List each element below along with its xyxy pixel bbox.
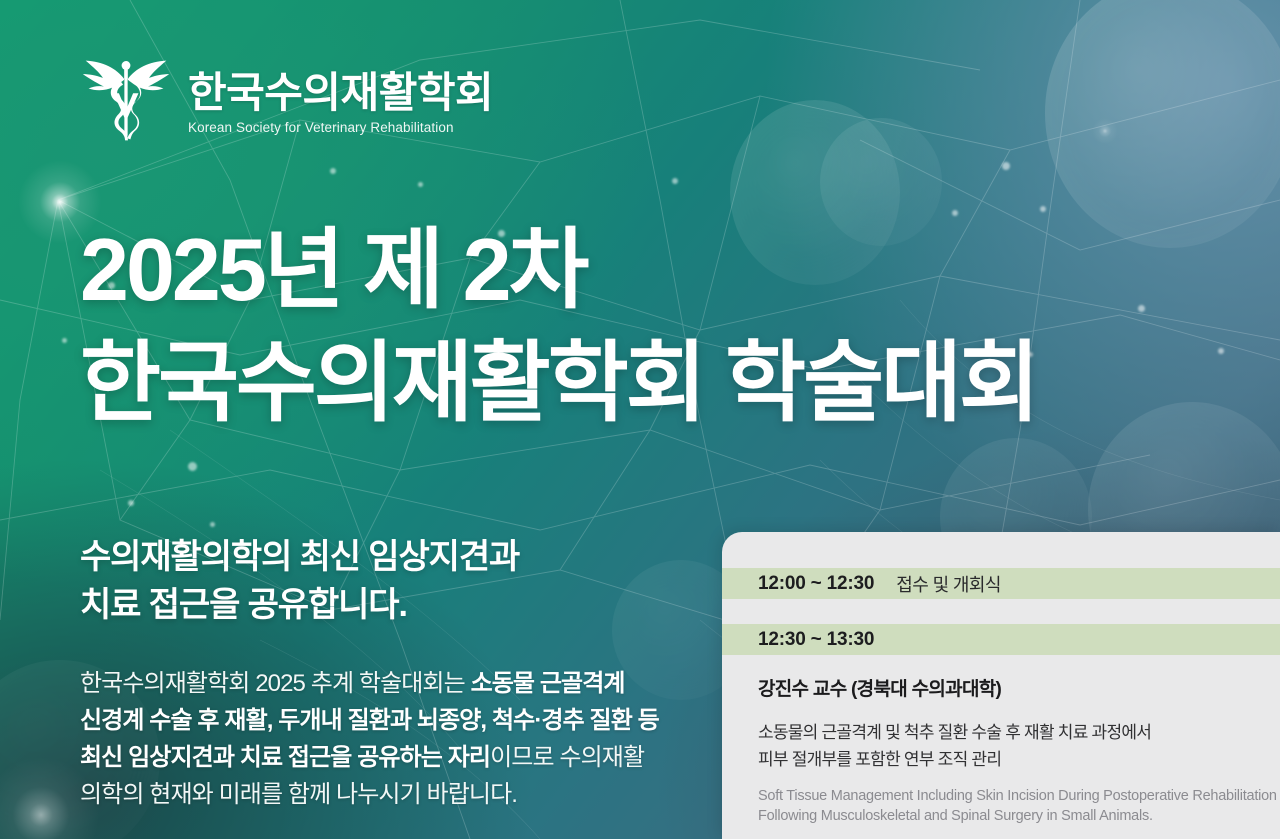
society-logo: 한국수의재활학회 Korean Society for Veterinary R… <box>78 52 493 148</box>
body-line-3: 최신 임상지견과 치료 접근을 공유하는 자리이므로 수의재활 <box>80 739 680 776</box>
body-line-4-normal: 의학의 현재와 미래를 함께 나누시기 바랍니다. <box>80 781 517 808</box>
session-title-korean-line-1: 소동물의 근골격계 및 척추 질환 수술 후 재활 치료 과정에서 <box>758 719 1256 746</box>
logo-text-column: 한국수의재활학회 Korean Society for Veterinary R… <box>188 65 493 135</box>
poster-canvas: 한국수의재활학회 Korean Society for Veterinary R… <box>0 0 1280 839</box>
session-title-english-line-1: Soft Tissue Management Including Skin In… <box>758 786 1256 806</box>
body-line-2-bold: 신경계 수술 후 재활, 두개내 질환과 뇌종양, 척수·경추 질환 등 <box>80 707 659 734</box>
poster-headline: 2025년 제 2차 한국수의재활학회 학술대회 <box>80 214 1037 439</box>
speaker-name: 강진수 교수 (경북대 수의과대학) <box>758 674 1256 701</box>
caduceus-icon <box>78 52 174 148</box>
schedule-panel: 12:00 ~ 12:30 접수 및 개회식 12:30 ~ 13:30 강진수… <box>722 532 1280 839</box>
logo-title-korean: 한국수의재활학회 <box>188 71 493 115</box>
session-title-korean-line-2: 피부 절개부를 포함한 연부 조직 관리 <box>758 746 1256 773</box>
body-line-3-normal: 이므로 수의재활 <box>490 744 644 771</box>
poster-subheadline: 수의재활의학의 최신 임상지견과 치료 접근을 공유합니다. <box>80 533 519 630</box>
schedule-row-label: 접수 및 개회식 <box>896 571 1001 597</box>
body-line-2: 신경계 수술 후 재활, 두개내 질환과 뇌종양, 척수·경추 질환 등 <box>80 702 680 739</box>
poster-body-copy: 한국수의재활학회 2025 추계 학술대회는 소동물 근골격계 신경계 수술 후… <box>80 665 680 813</box>
session-title-english-line-2: Following Musculoskeletal and Spinal Sur… <box>758 806 1256 826</box>
body-line-1: 한국수의재활학회 2025 추계 학술대회는 소동물 근골격계 <box>80 665 680 702</box>
schedule-row-time: 12:00 ~ 12:30 <box>758 573 874 595</box>
session-title-korean: 소동물의 근골격계 및 척추 질환 수술 후 재활 치료 과정에서 피부 절개부… <box>758 719 1256 773</box>
body-line-1-bold: 소동물 근골격계 <box>471 670 625 697</box>
session-details: 강진수 교수 (경북대 수의과대학) 소동물의 근골격계 및 척추 질환 수술 … <box>758 674 1256 826</box>
subhead-line-2: 치료 접근을 공유합니다. <box>80 581 519 629</box>
headline-line-2: 한국수의재활학회 학술대회 <box>80 327 1037 440</box>
body-line-1-normal: 한국수의재활학회 2025 추계 학술대회는 <box>80 670 471 697</box>
schedule-row[interactable]: 12:30 ~ 13:30 <box>722 624 1280 655</box>
subhead-line-1: 수의재활의학의 최신 임상지견과 <box>80 533 519 581</box>
schedule-row-time: 12:30 ~ 13:30 <box>758 629 874 651</box>
schedule-row[interactable]: 12:00 ~ 12:30 접수 및 개회식 <box>722 568 1280 599</box>
headline-line-1: 2025년 제 2차 <box>80 214 1037 327</box>
body-line-4: 의학의 현재와 미래를 함께 나누시기 바랍니다. <box>80 776 680 813</box>
logo-title-english: Korean Society for Veterinary Rehabilita… <box>188 120 493 135</box>
body-line-3-bold: 최신 임상지견과 치료 접근을 공유하는 자리 <box>80 744 490 771</box>
session-title-english: Soft Tissue Management Including Skin In… <box>758 786 1256 826</box>
